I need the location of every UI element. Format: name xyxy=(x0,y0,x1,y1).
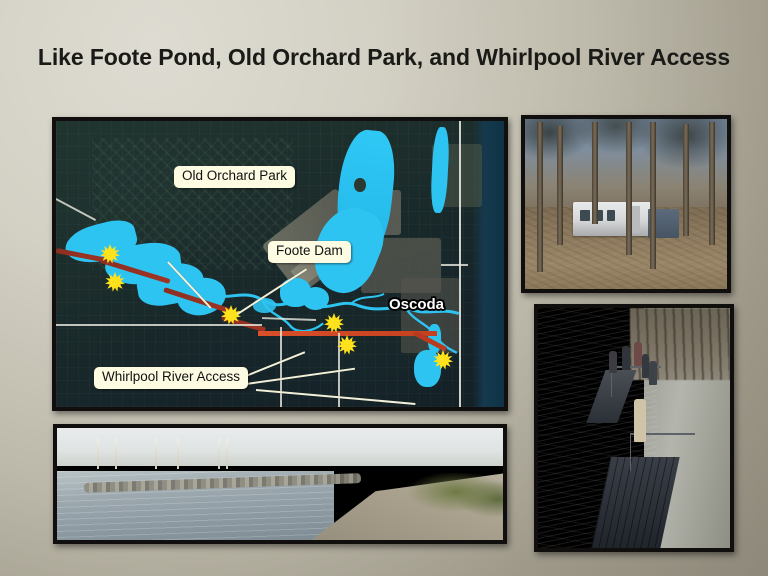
callout-old-orchard-park[interactable]: Old Orchard Park xyxy=(174,166,295,188)
birch-trunk-3 xyxy=(155,438,157,469)
map-canvas: Old Orchard Park Foote Dam Whirlpool Riv… xyxy=(56,121,504,407)
highway-us23 xyxy=(258,331,437,336)
satellite-map-image[interactable]: Old Orchard Park Foote Dam Whirlpool Riv… xyxy=(52,117,508,411)
page-title: Like Foote Pond, Old Orchard Park, and W… xyxy=(0,44,768,71)
birch-trunk-6 xyxy=(226,438,228,469)
birch-trunk-4 xyxy=(177,438,179,469)
tree-trunk-4 xyxy=(626,122,632,255)
tree-trunk-7 xyxy=(709,122,715,244)
rv-window-3 xyxy=(607,210,614,222)
shoreline-autumn-treeline xyxy=(57,435,503,473)
shoreline-photo[interactable] xyxy=(53,424,507,544)
road-secondary-1 xyxy=(56,324,262,326)
road-secondary-3 xyxy=(280,327,282,407)
angler-6-foreground xyxy=(634,399,646,442)
tree-trunk-2 xyxy=(557,126,563,245)
angler-3 xyxy=(634,342,642,366)
tree-trunk-1 xyxy=(537,122,543,272)
birch-trunk-2 xyxy=(115,438,117,469)
callout-foote-dam[interactable]: Foote Dam xyxy=(268,241,351,263)
tree-trunk-3 xyxy=(592,122,598,224)
angler-5 xyxy=(649,361,657,385)
campsite-photo[interactable] xyxy=(521,115,731,293)
birch-trunk-1 xyxy=(97,438,99,469)
rv-window-1 xyxy=(580,210,591,222)
tree-trunk-5 xyxy=(650,122,656,268)
fishing-pier-photo[interactable] xyxy=(534,304,734,552)
map-city-label-oscoda: Oscoda xyxy=(389,296,444,313)
angler-2 xyxy=(622,346,630,370)
birch-trunk-5 xyxy=(218,438,220,469)
shoreline-shrubs xyxy=(387,473,503,520)
angler-4 xyxy=(642,354,650,378)
road-secondary-5 xyxy=(441,264,468,266)
rv-trailer xyxy=(573,202,654,236)
angler-1 xyxy=(609,351,617,373)
tree-trunk-6 xyxy=(683,124,689,236)
callout-whirlpool-river-access[interactable]: Whirlpool River Access xyxy=(94,367,248,389)
